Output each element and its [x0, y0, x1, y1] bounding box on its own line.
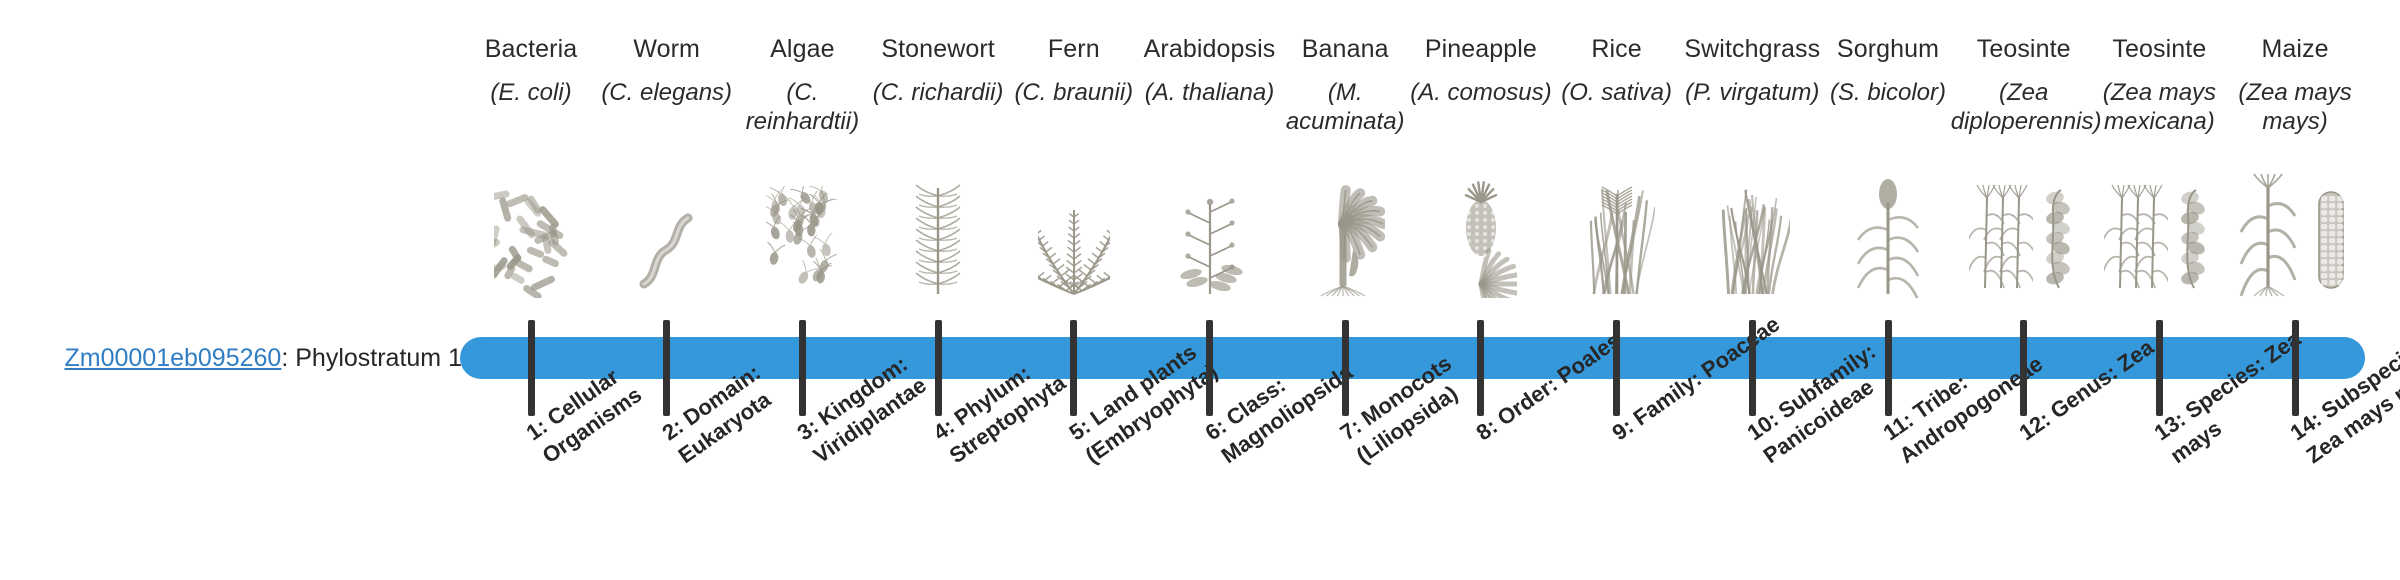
phylostratum-tick[interactable] [2156, 320, 2163, 416]
species-common-name: Algae [727, 34, 877, 64]
species-scientific-name: (Zea mays mays) [2220, 78, 2370, 136]
phylostratum-tick[interactable] [528, 320, 535, 416]
species-column: Pineapple(A. comosus) [1406, 34, 1556, 107]
algae-illustration [727, 168, 877, 298]
stonewort-illustration [863, 168, 1013, 298]
species-common-name: Pineapple [1406, 34, 1556, 64]
switchgrass-illustration [1677, 168, 1827, 298]
species-common-name: Rice [1542, 34, 1692, 64]
species-scientific-name: (C. richardii) [863, 78, 1013, 107]
phylostratum-tick[interactable] [1885, 320, 1892, 416]
species-scientific-name: (A. comosus) [1406, 78, 1556, 107]
phylostratum-tick[interactable] [1749, 320, 1756, 416]
species-column: Worm(C. elegans) [592, 34, 742, 107]
species-scientific-name: (C. elegans) [592, 78, 742, 107]
species-scientific-name: (C. reinhardtii) [727, 78, 877, 136]
maize-illustration [2220, 168, 2370, 298]
rice-illustration [1542, 168, 1692, 298]
species-scientific-name: (M. acuminata) [1270, 78, 1420, 136]
species-column: Banana(M. acuminata) [1270, 34, 1420, 136]
species-column: Stonewort(C. richardii) [863, 34, 1013, 107]
species-column: Fern(C. braunii) [999, 34, 1149, 107]
phylostratum-tick[interactable] [2292, 320, 2299, 416]
species-column: Arabidopsis(A. thaliana) [1135, 34, 1285, 107]
phylostratum-value: Phylostratum 1 [295, 344, 462, 372]
fern-illustration [999, 168, 1149, 298]
species-common-name: Worm [592, 34, 742, 64]
banana-illustration [1270, 168, 1420, 298]
species-common-name: Maize [2220, 34, 2370, 64]
species-common-name: Banana [1270, 34, 1420, 64]
teosinte-mexicana-illustration [2084, 168, 2234, 298]
phylostratum-label: : Phylostratum 1 [281, 344, 462, 373]
phylostratum-tick[interactable] [663, 320, 670, 416]
phylostratum-tick[interactable] [935, 320, 942, 416]
pineapple-illustration [1406, 168, 1556, 298]
species-column: Maize(Zea mays mays) [2220, 34, 2370, 136]
phylostratum-tick[interactable] [2020, 320, 2027, 416]
species-column: Algae(C. reinhardtii) [727, 34, 877, 136]
species-common-name: Sorghum [1813, 34, 1963, 64]
phylostratum-tick[interactable] [1342, 320, 1349, 416]
teosinte-illustration [1949, 168, 2099, 298]
bacteria-illustration [456, 168, 606, 298]
species-column: Sorghum(S. bicolor) [1813, 34, 1963, 107]
species-common-name: Fern [999, 34, 1149, 64]
species-scientific-name: (A. thaliana) [1135, 78, 1285, 107]
phylostratum-tick[interactable] [799, 320, 806, 416]
phylostratum-tick[interactable] [1477, 320, 1484, 416]
species-common-name: Stonewort [863, 34, 1013, 64]
species-common-name: Switchgrass [1677, 34, 1827, 64]
species-scientific-name: (E. coli) [456, 78, 606, 107]
species-column: Switchgrass(P. virgatum) [1677, 34, 1827, 107]
phylostratum-tick[interactable] [1070, 320, 1077, 416]
species-scientific-name: (O. sativa) [1542, 78, 1692, 107]
species-column: Teosinte(Zea diploperennis) [1949, 34, 2099, 136]
species-column: Rice(O. sativa) [1542, 34, 1692, 107]
species-column: Teosinte(Zea mays mexicana) [2084, 34, 2234, 136]
species-common-name: Bacteria [456, 34, 606, 64]
phylostratum-tick[interactable] [1613, 320, 1620, 416]
label-separator: : [281, 344, 295, 372]
worm-illustration [592, 168, 742, 298]
arabidopsis-illustration [1135, 168, 1285, 298]
phylostratum-tick[interactable] [1206, 320, 1213, 416]
species-column: Bacteria(E. coli) [456, 34, 606, 107]
sorghum-illustration [1813, 168, 1963, 298]
species-common-name: Arabidopsis [1135, 34, 1285, 64]
species-common-name: Teosinte [1949, 34, 2099, 64]
gene-id-link[interactable]: Zm00001eb095260 [64, 344, 281, 373]
species-scientific-name: (C. braunii) [999, 78, 1149, 107]
species-scientific-name: (P. virgatum) [1677, 78, 1827, 107]
species-scientific-name: (Zea diploperennis) [1949, 78, 2099, 136]
species-common-name: Teosinte [2084, 34, 2234, 64]
phylostratum-figure: Zm00001eb095260: Phylostratum 1 Bacteria… [0, 0, 2400, 580]
row-label: Zm00001eb095260: Phylostratum 1 [0, 337, 480, 379]
species-scientific-name: (S. bicolor) [1813, 78, 1963, 107]
species-scientific-name: (Zea mays mexicana) [2084, 78, 2234, 136]
